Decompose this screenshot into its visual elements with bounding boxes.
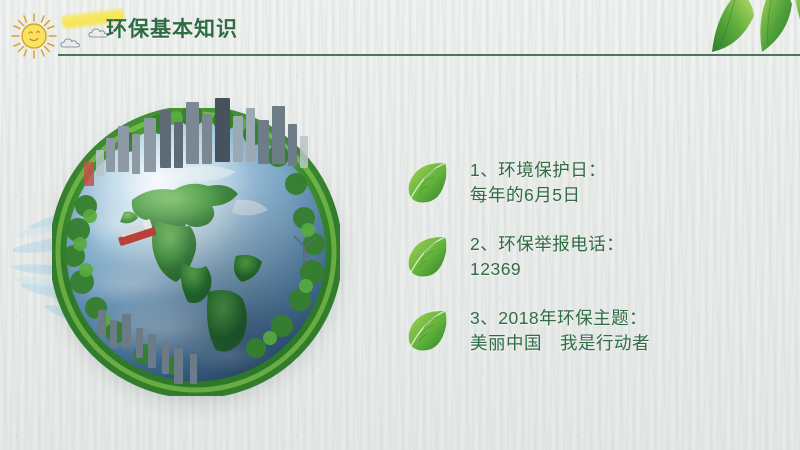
list-item-line2: 每年的6月5日 — [470, 183, 776, 208]
list-item-line1: 2、环保举报电话： — [470, 234, 624, 254]
slide-canvas: 环保基本知识 — [0, 0, 800, 450]
wind-turbine-icon — [294, 236, 316, 266]
list-item: 3、2018年环保主题： 美丽中国 我是行动者 — [404, 306, 776, 364]
skyline-top — [84, 98, 308, 186]
sun-icon — [10, 12, 58, 60]
leaf-icon — [404, 234, 452, 278]
bullet-list: 1、环境保护日： 每年的6月5日 2、环保举报电话： 12369 — [404, 158, 776, 380]
list-item: 1、环境保护日： 每年的6月5日 — [404, 158, 776, 216]
list-item-line1: 1、环境保护日： — [470, 160, 606, 180]
list-item-line2: 美丽中国 我是行动者 — [470, 331, 776, 356]
globe-city-skyline — [52, 96, 342, 396]
skyline-bottom — [98, 310, 197, 384]
leaf-branch-icon — [586, 0, 800, 92]
cloud-icon — [60, 36, 86, 50]
leaf-icon — [404, 160, 452, 204]
list-item-line2: 12369 — [470, 257, 776, 282]
list-item-text: 2、环保举报电话： 12369 — [470, 232, 776, 282]
list-item-text: 3、2018年环保主题： 美丽中国 我是行动者 — [470, 306, 776, 356]
leaf-icon — [404, 308, 452, 352]
page-title: 环保基本知识 — [106, 17, 238, 43]
list-item-text: 1、环境保护日： 每年的6月5日 — [470, 158, 776, 208]
list-item: 2、环保举报电话： 12369 — [404, 232, 776, 290]
earth-globe-illustration — [12, 78, 382, 418]
list-item-line1: 3、2018年环保主题： — [470, 308, 647, 328]
